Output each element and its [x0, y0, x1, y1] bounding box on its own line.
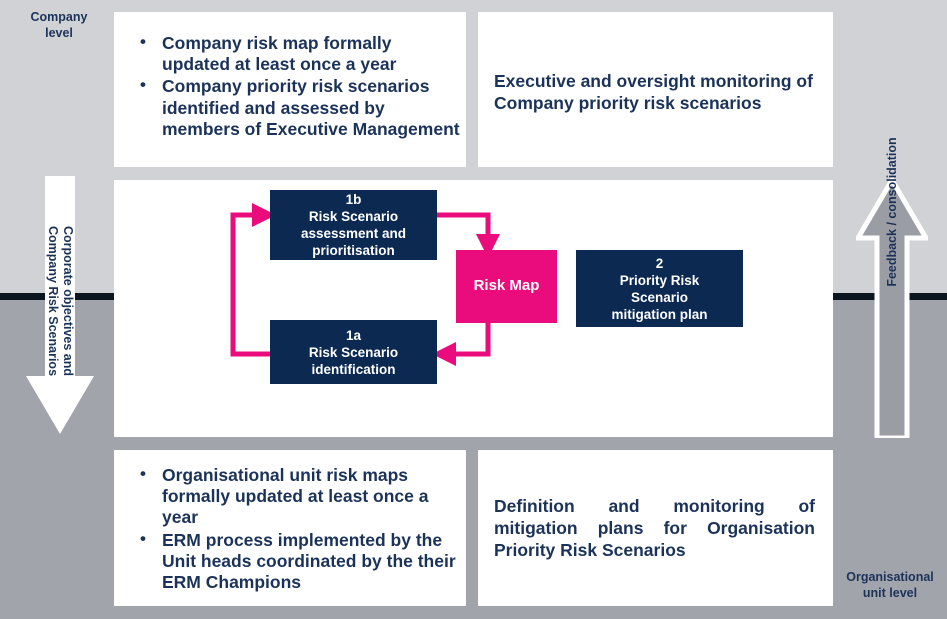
- list-item: ERM process implemented by the Unit head…: [128, 530, 460, 594]
- corporate-objectives-arrow-text: Corporate objectives and Company Risk Sc…: [45, 226, 75, 376]
- feedback-consolidation-arrow-label: Feedback / consolidation: [856, 0, 928, 248]
- executive-oversight-text: Executive and oversight monitoring of Co…: [494, 70, 817, 114]
- mitigation-plan-definition-text: Definition and monitoring of mitigation …: [494, 495, 815, 561]
- list-item: Organisational unit risk maps formally u…: [128, 465, 460, 529]
- organisational-unit-bullet-list: Organisational unit risk maps formally u…: [128, 465, 460, 593]
- feedback-consolidation-arrow-text: Feedback / consolidation: [885, 137, 900, 286]
- company-level-practices-box: Company risk map formally updated at lea…: [114, 12, 466, 167]
- organisational-unit-level-label: Organisational unit level: [838, 570, 942, 601]
- corporate-objectives-arrow-label: Corporate objectives and Company Risk Sc…: [24, 176, 96, 438]
- company-level-bullet-list: Company risk map formally updated at lea…: [128, 33, 460, 140]
- organisational-unit-practices-box: Organisational unit risk maps formally u…: [114, 450, 466, 606]
- node-risk-scenario-assessment[interactable]: 1b Risk Scenario assessment and prioriti…: [270, 190, 437, 260]
- node-risk-scenario-identification[interactable]: 1a Risk Scenario identification: [270, 320, 437, 384]
- diagram-canvas: Company level Organisational unit level …: [0, 0, 947, 619]
- node-priority-risk-scenario-mitigation-plan[interactable]: 2 Priority Risk Scenario mitigation plan: [576, 250, 743, 327]
- executive-oversight-box: Executive and oversight monitoring of Co…: [478, 12, 833, 167]
- connector-riskmap-to-identification: [432, 323, 488, 366]
- node-risk-map[interactable]: Risk Map: [456, 250, 557, 323]
- mitigation-plan-definition-box: Definition and monitoring of mitigation …: [478, 450, 833, 606]
- list-item: Company priority risk scenarios identifi…: [128, 76, 460, 140]
- company-level-label: Company level: [8, 10, 110, 41]
- list-item: Company risk map formally updated at lea…: [128, 33, 460, 75]
